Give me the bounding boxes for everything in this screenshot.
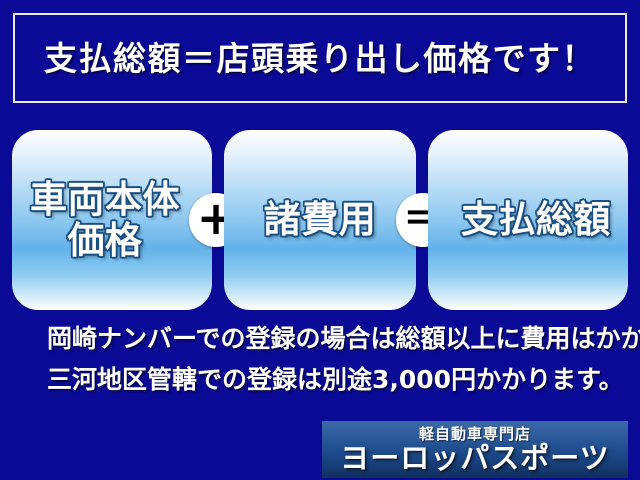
formula-box-vehicle-price-line2: 価格 (30, 220, 180, 261)
dealer-logo-plate: 軽自動車専門店 ヨーロッパスポーツ (322, 421, 628, 478)
dealer-logo-subtitle: 軽自動車専門店 (419, 427, 531, 442)
formula-box-misc-fees: 諸費用 (224, 130, 416, 310)
advertisement-banner: 支払総額＝店頭乗り出し価格です！ 車両本体 価格 + 諸費用 ＝ 支払総額 岡崎… (0, 0, 640, 480)
formula-box-vehicle-price-label: 車両本体 価格 (30, 179, 194, 262)
formula-box-misc-fees-label: 諸費用 (264, 199, 377, 240)
dealer-logo-name: ヨーロッパスポーツ (340, 444, 609, 473)
notice-line-2: 三河地区管轄での登録は別途3,000円かかります。 (47, 359, 640, 400)
formula-box-vehicle-price: 車両本体 価格 (12, 130, 212, 310)
notice-block: 岡崎ナンバーでの登録の場合は総額以上に費用はかかりません。 三河地区管轄での登録… (0, 318, 640, 400)
header-banner: 支払総額＝店頭乗り出し価格です！ (13, 13, 627, 103)
price-formula-row: 車両本体 価格 + 諸費用 ＝ 支払総額 (0, 130, 640, 310)
formula-box-total-payment-label: 支払総額 (445, 199, 611, 240)
notice-line-1: 岡崎ナンバーでの登録の場合は総額以上に費用はかかりません。 (47, 318, 640, 359)
formula-box-total-payment: 支払総額 (428, 130, 628, 310)
header-headline: 支払総額＝店頭乗り出し価格です！ (44, 42, 596, 75)
formula-box-vehicle-price-line1: 車両本体 (30, 179, 180, 220)
